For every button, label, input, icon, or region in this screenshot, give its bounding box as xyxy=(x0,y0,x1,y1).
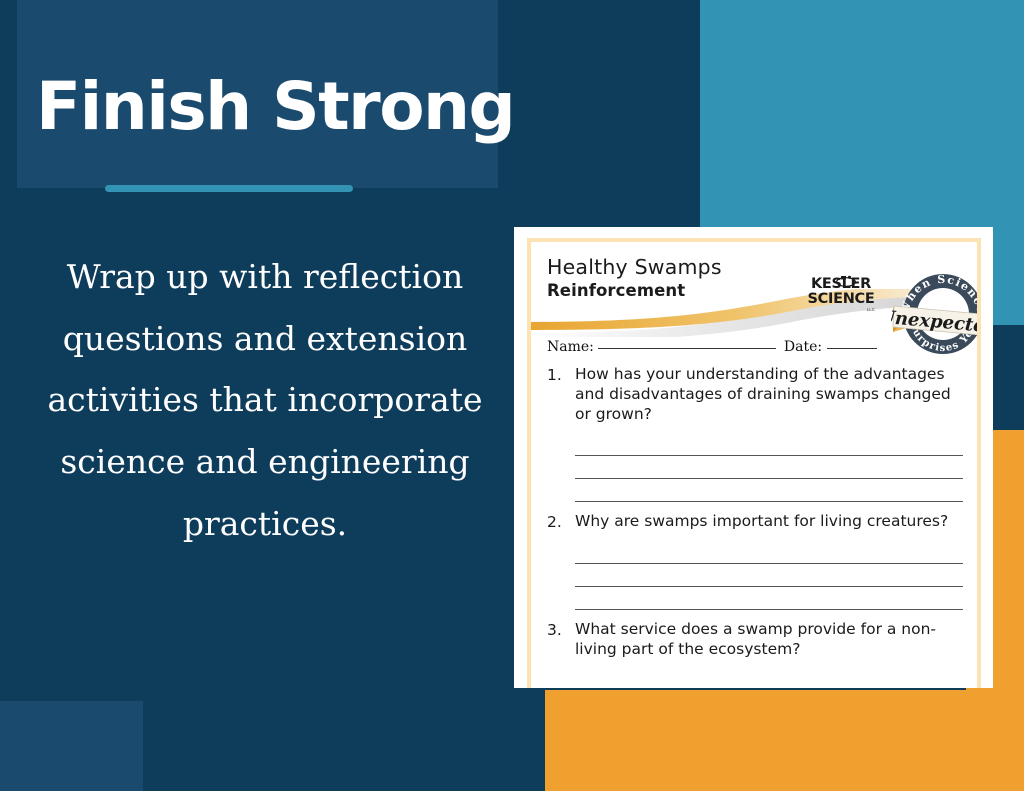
kesler-word-2: SCIENCE xyxy=(805,292,877,307)
answer-line[interactable] xyxy=(575,456,963,479)
worksheet-card: Healthy Swamps Reinforcement KESLER SCIE… xyxy=(514,227,993,688)
page-title: Finish Strong xyxy=(36,74,514,140)
answer-line[interactable] xyxy=(575,587,963,610)
question-item: 3. What service does a swamp provide for… xyxy=(547,620,963,660)
question-number: 1. xyxy=(547,365,575,424)
date-label: Date: xyxy=(784,339,822,355)
name-label: Name: xyxy=(547,339,594,355)
atom-icon xyxy=(835,275,857,288)
title-underline-accent xyxy=(105,185,353,192)
background-navy-bottom-left-block xyxy=(0,701,143,791)
answer-line[interactable] xyxy=(575,564,963,587)
slide-canvas: Finish Strong Wrap up with reflection qu… xyxy=(0,0,1024,791)
question-text: How has your understanding of the advant… xyxy=(575,365,963,424)
question-number: 2. xyxy=(547,512,575,532)
answer-lines-1 xyxy=(575,433,963,502)
answer-line[interactable] xyxy=(575,433,963,456)
answer-line[interactable] xyxy=(575,479,963,502)
name-date-row: Name:Date: xyxy=(547,339,963,355)
question-text: Why are swamps important for living crea… xyxy=(575,512,963,532)
body-paragraph: Wrap up with reflection questions and ex… xyxy=(30,246,500,555)
name-input-blank[interactable] xyxy=(598,348,776,349)
kesler-trademark: LLC xyxy=(805,307,877,312)
worksheet-inner-border: Healthy Swamps Reinforcement KESLER SCIE… xyxy=(527,238,981,688)
answer-line[interactable] xyxy=(575,541,963,564)
question-item: 2. Why are swamps important for living c… xyxy=(547,512,963,532)
question-text: What service does a swamp provide for a … xyxy=(575,620,963,660)
worksheet-title: Healthy Swamps xyxy=(547,255,722,279)
questions-list: 1. How has your understanding of the adv… xyxy=(547,365,963,660)
worksheet-header: Healthy Swamps Reinforcement KESLER SCIE… xyxy=(547,255,963,337)
background-left-sliver xyxy=(0,0,17,188)
question-item: 1. How has your understanding of the adv… xyxy=(547,365,963,424)
worksheet-subtitle: Reinforcement xyxy=(547,281,685,300)
answer-lines-2 xyxy=(575,541,963,610)
question-number: 3. xyxy=(547,620,575,660)
date-input-blank[interactable] xyxy=(827,348,877,349)
background-orange-bottom-block xyxy=(545,690,1024,791)
kesler-science-logo: KESLER SCIENCE LLC xyxy=(805,277,877,323)
